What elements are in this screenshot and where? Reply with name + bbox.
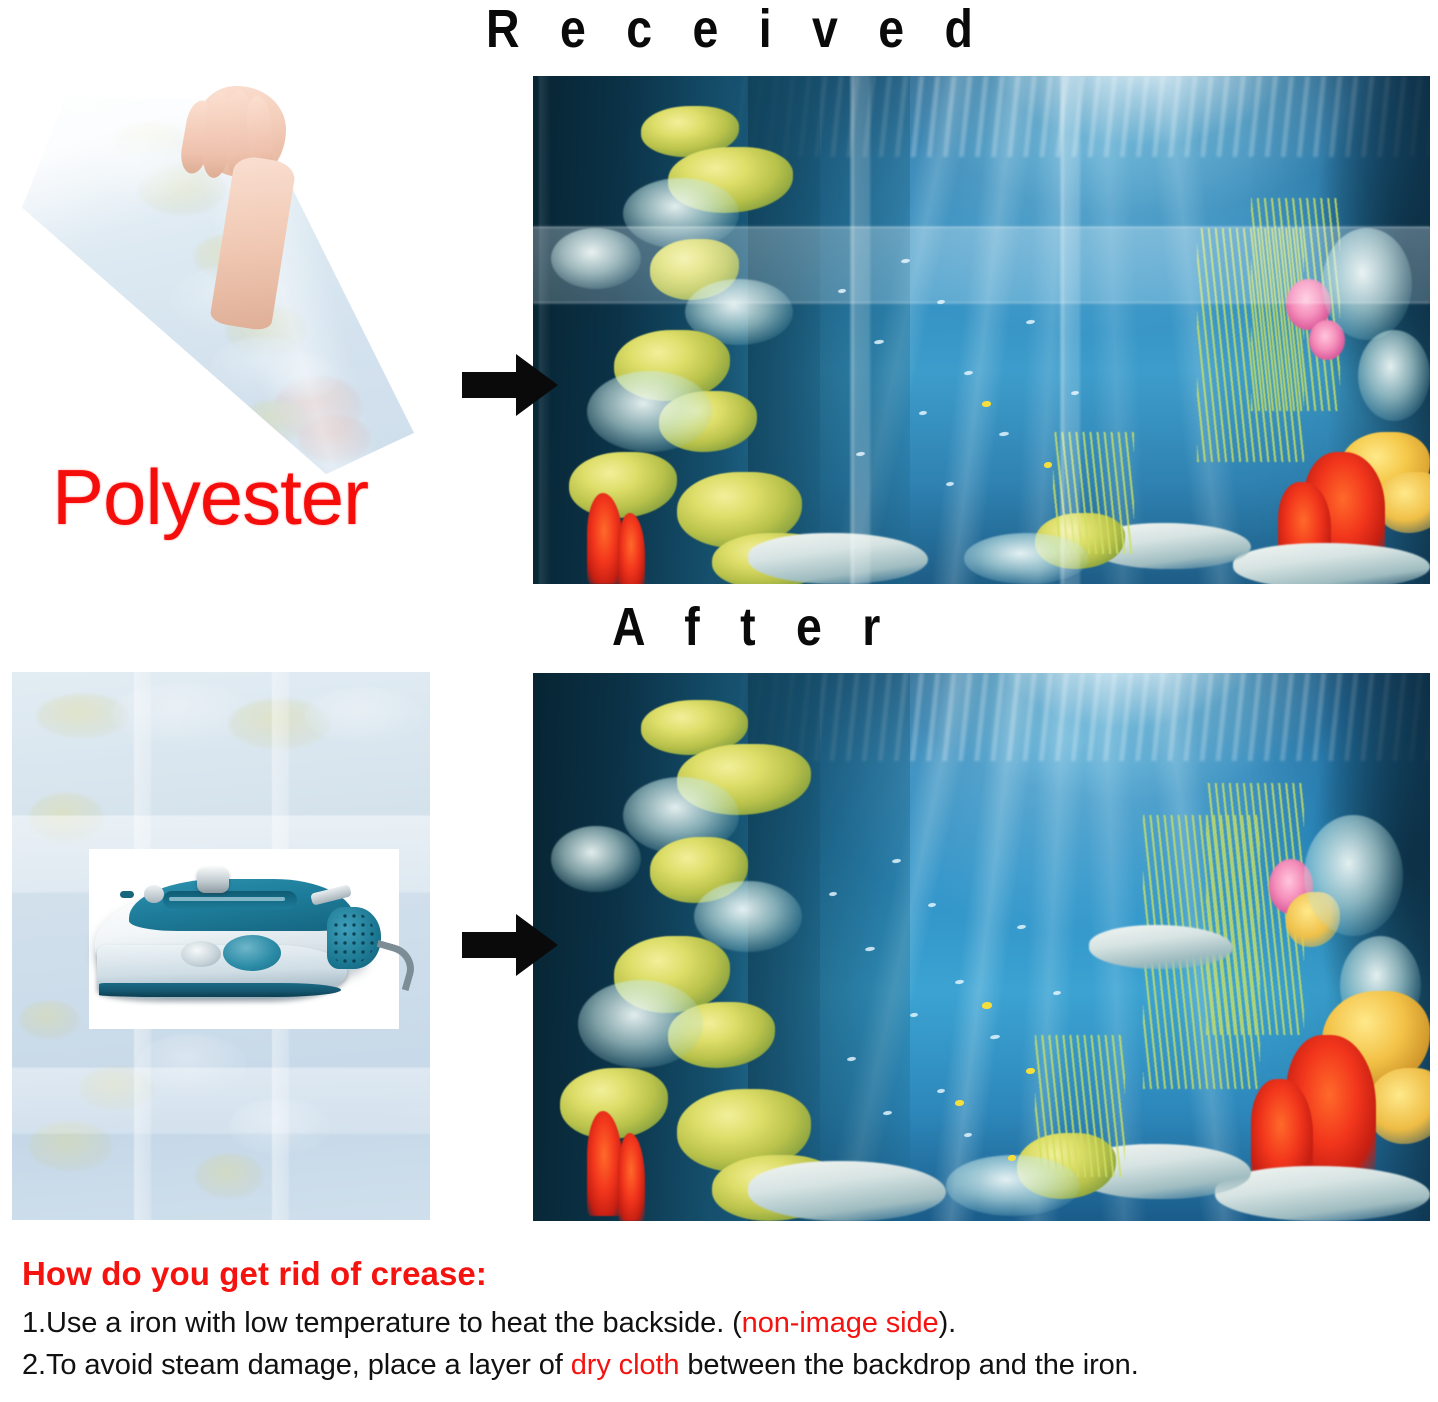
polyester-label: Polyester <box>52 458 368 536</box>
iron-nozzle <box>120 891 134 898</box>
panel-after-image <box>533 673 1430 1221</box>
step1-suffix: ). <box>939 1307 957 1339</box>
instruction-step-2: 2.To avoid steam damage, place a layer o… <box>22 1349 1139 1382</box>
iron-steam-knob <box>197 867 229 893</box>
iron-soleplate-edge <box>99 983 341 997</box>
step2-suffix: between the backdrop and the iron. <box>679 1349 1138 1381</box>
infographic-stage: R e c e i v e d A f t e r Polyester <box>0 0 1438 1402</box>
hand-holding-iron <box>180 84 300 314</box>
step2-highlight: dry cloth <box>571 1349 680 1381</box>
iron-handle-stripe <box>169 897 285 901</box>
step2-prefix: 2.To avoid steam damage, place a layer o… <box>22 1349 571 1381</box>
instructions-title: How do you get rid of crease: <box>22 1255 487 1293</box>
forearm <box>209 154 297 332</box>
iron-temperature-dial <box>181 941 221 967</box>
instruction-step-1: 1.Use a iron with low temperature to hea… <box>22 1307 956 1340</box>
iron-vent-holes <box>333 913 375 963</box>
arrow-right-icon <box>462 352 558 423</box>
panel-received-image <box>533 76 1430 584</box>
reef-artwork-received <box>533 76 1430 584</box>
iron-water-tank <box>223 935 281 971</box>
heading-after: A f t e r <box>612 600 894 654</box>
iron-spray-button <box>144 885 164 903</box>
step1-highlight: non-image side <box>742 1307 939 1339</box>
arrow-right-icon <box>462 912 558 983</box>
iron-photo <box>89 849 399 1029</box>
step1-prefix: 1.Use a iron with low temperature to hea… <box>22 1307 742 1339</box>
reef-artwork-after <box>533 673 1430 1221</box>
heading-received: R e c e i v e d <box>486 2 987 56</box>
